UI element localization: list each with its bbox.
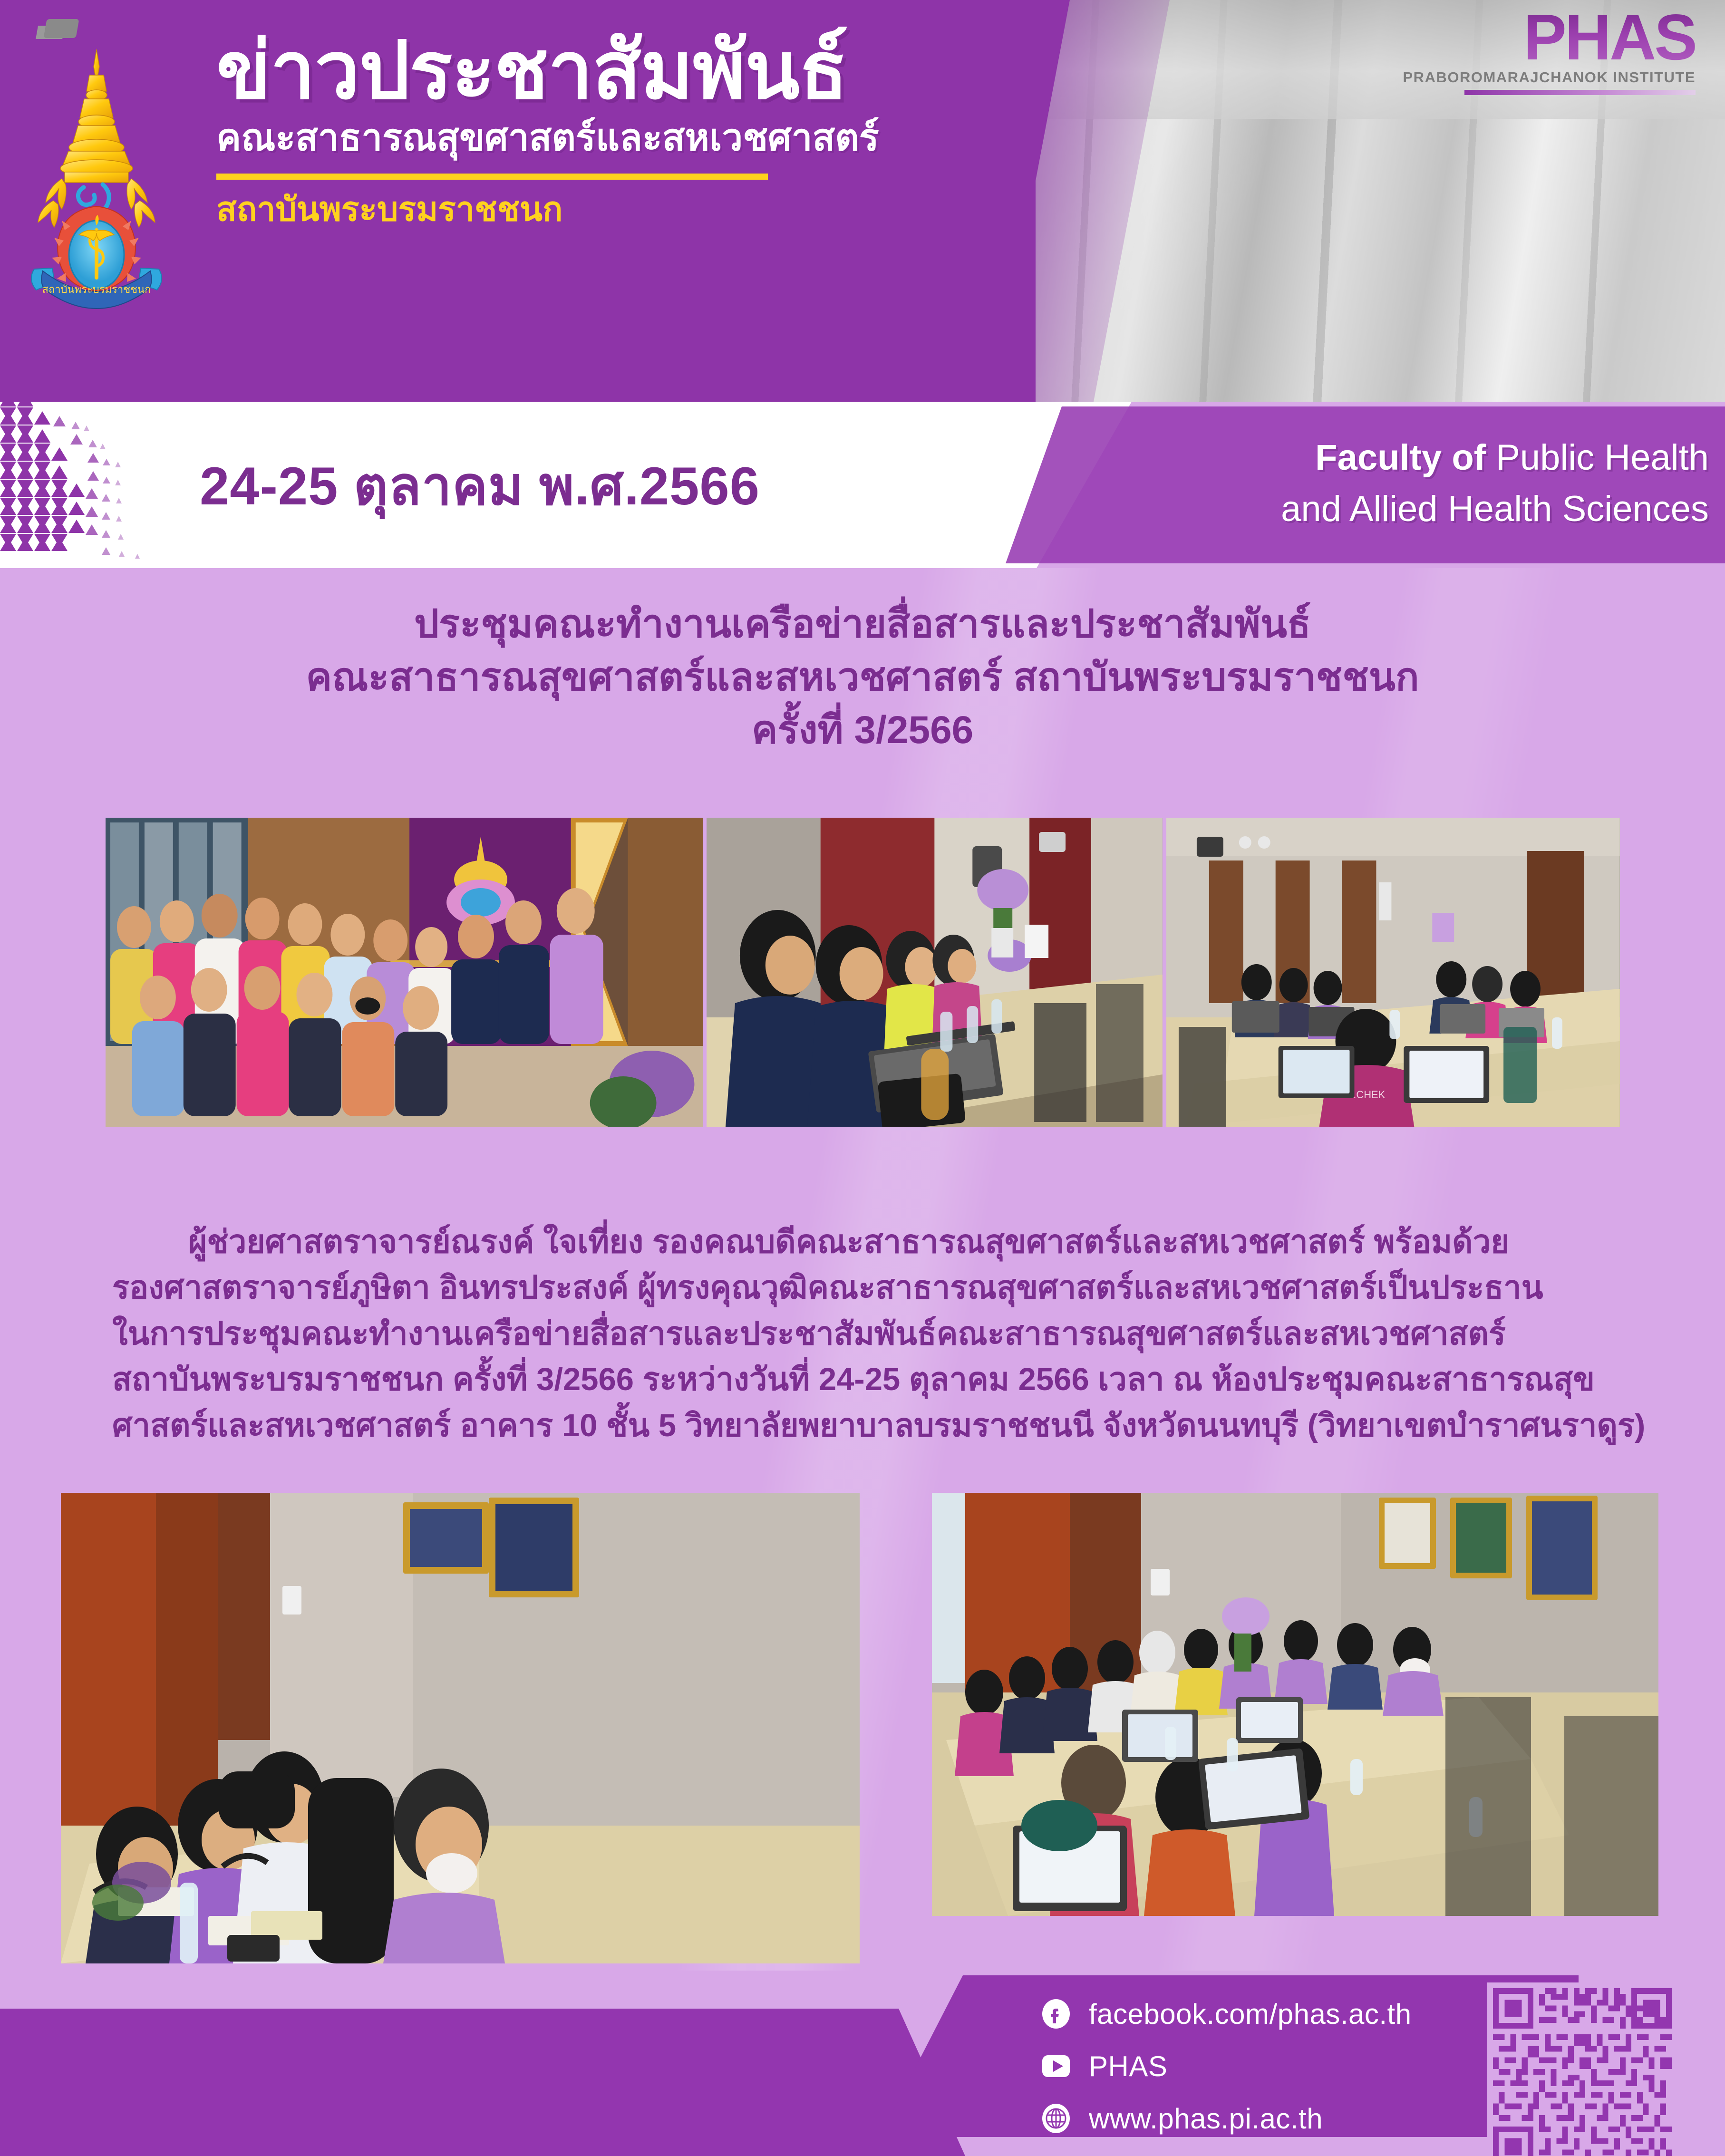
faculty-of-label: Faculty of xyxy=(1315,437,1486,478)
body-line-5: ศาสตร์และสหเวชศาสตร์ อาคาร 10 ชั้น 5 วิท… xyxy=(112,1403,1615,1449)
svg-text:สถาบันพระบรมราชชนก: สถาบันพระบรมราชชนก xyxy=(42,283,151,295)
panel-speakers-photo xyxy=(61,1493,860,1963)
photo-strip-top: S.CHEK xyxy=(106,818,1620,1127)
page-title: ข่าวประชาสัมพันธ์ xyxy=(216,28,879,114)
page-header: สถาบันพระบรมราชชนก ข่าวประชาสัมพันธ์ คณะ… xyxy=(0,0,1725,402)
meeting-table-overview-photo xyxy=(932,1493,1658,1916)
phas-wordmark: PHAS xyxy=(1403,7,1696,68)
event-date: 24-25 ตุลาคม พ.ศ.2566 xyxy=(200,444,760,528)
body-line-4: สถาบันพระบรมราชชนก ครั้งที่ 3/2566 ระหว่… xyxy=(112,1357,1615,1402)
body-line-2: รองศาสตราจารย์ภูษิตา อินทรประสงค์ ผู้ทรง… xyxy=(112,1265,1615,1311)
facebook-icon xyxy=(1041,1999,1071,2029)
faculty-name-box: Faculty of Public Health and Allied Heal… xyxy=(1006,406,1725,563)
header-institute: สถาบันพระบรมราชชนก xyxy=(216,191,879,228)
event-title-line-2: คณะสาธารณสุขศาสตร์และสหเวชศาสตร์ สถาบันพ… xyxy=(0,651,1725,704)
social-facebook[interactable]: facebook.com/phas.ac.th xyxy=(1041,1992,1412,2036)
youtube-icon xyxy=(1041,2051,1071,2081)
meeting-room-participants-laptops xyxy=(707,818,1163,1127)
body-line-1: ผู้ช่วยศาสตราจารย์ณรงค์ ใจเที่ยง รองคณบด… xyxy=(112,1219,1615,1265)
meeting-room-wide-view: S.CHEK xyxy=(1166,818,1620,1127)
social-website[interactable]: www.phas.pi.ac.th xyxy=(1041,2097,1412,2140)
website-label: www.phas.pi.ac.th xyxy=(1089,2102,1323,2135)
event-title-line-3: ครั้งที่ 3/2566 xyxy=(0,704,1725,757)
date-band: 24-25 ตุลาคม พ.ศ.2566 Faculty of Public … xyxy=(0,402,1725,568)
social-links: facebook.com/phas.ac.th PHAS xyxy=(1041,1992,1412,2149)
social-youtube[interactable]: PHAS xyxy=(1041,2044,1412,2088)
globe-icon xyxy=(1041,2104,1071,2133)
qr-code xyxy=(1487,1982,1677,2156)
triangle-pattern-decoration xyxy=(0,402,143,568)
phas-underline xyxy=(1464,90,1696,95)
date-band-white-panel: 24-25 ตุลาคม พ.ศ.2566 xyxy=(0,402,1132,568)
faculty-public-health-label: Public Health xyxy=(1486,437,1709,478)
praboromarajchanok-seal: สถาบันพระบรมราชชนก xyxy=(18,46,175,312)
phas-tagline: PRABOROMARAJCHANOK INSTITUTE xyxy=(1403,69,1696,86)
body-line-3: ในการประชุมคณะทำงานเครือข่ายสื่อสารและปร… xyxy=(112,1311,1615,1357)
header-divider xyxy=(216,174,768,180)
body-paragraph: ผู้ช่วยศาสตราจารย์ณรงค์ ใจเที่ยง รองคณบด… xyxy=(112,1219,1615,1449)
main-content: ประชุมคณะทำงานเครือข่ายสื่อสารและประชาสั… xyxy=(0,568,1725,2156)
event-title-block: ประชุมคณะทำงานเครือข่ายสื่อสารและประชาสั… xyxy=(0,598,1725,757)
event-title-line-1: ประชุมคณะทำงานเครือข่ายสื่อสารและประชาสั… xyxy=(0,598,1725,651)
photo-group-bottom xyxy=(0,1493,1725,1963)
ceiling-speaker-icon xyxy=(43,19,79,38)
phas-logo: PHAS PRABOROMARAJCHANOK INSTITUTE xyxy=(1403,7,1696,95)
facebook-label: facebook.com/phas.ac.th xyxy=(1089,1998,1412,2030)
header-subtitle: คณะสาธารณสุขศาสตร์และสหเวชศาสตร์ xyxy=(216,116,879,159)
header-text-block: ข่าวประชาสัมพันธ์ คณะสาธารณสุขศาสตร์และส… xyxy=(216,0,879,228)
faculty-line-1: Faculty of Public Health xyxy=(1006,440,1725,476)
group-photo-attendees xyxy=(106,818,703,1127)
youtube-label: PHAS xyxy=(1089,2050,1167,2083)
faculty-line-2: and Allied Health Sciences xyxy=(1006,491,1725,527)
